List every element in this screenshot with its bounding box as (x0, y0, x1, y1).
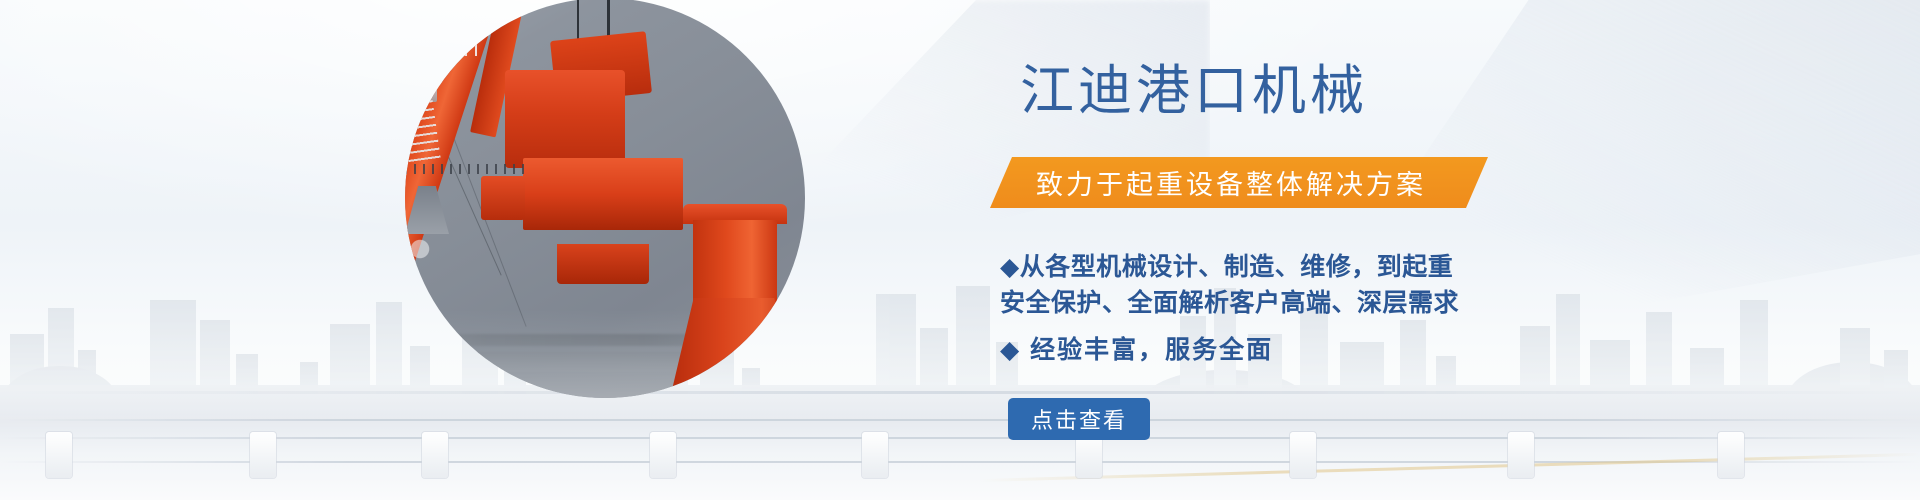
view-details-button[interactable]: 点击查看 (1008, 398, 1150, 440)
selling-point: ◆ 经验丰富，服务全面 (1000, 330, 1273, 366)
description-line-2: 安全保护、全面解析客户高端、深层需求 (1000, 286, 1459, 322)
crane-machinery-house (505, 70, 625, 168)
hero-banner: 江迪港口机械 致力于起重设备整体解决方案 ◆从各型机械设计、制造、维修，到起重 … (0, 0, 1920, 500)
crane-handrail (405, 36, 479, 56)
description-block: ◆从各型机械设计、制造、维修，到起重 安全保护、全面解析客户高端、深层需求 (1000, 250, 1459, 321)
tagline-text: 致力于起重设备整体解决方案 (1036, 163, 1426, 202)
background-road (0, 385, 1920, 500)
pedestal-column (693, 220, 777, 306)
crane-cabin (481, 176, 525, 220)
tagline-banner: 致力于起重设备整体解决方案 (990, 157, 1488, 208)
pedestal-handrail (405, 164, 527, 174)
page-title: 江迪港口机械 (1020, 64, 1368, 118)
crane-lower-block (557, 244, 649, 284)
crane-operator-house (523, 158, 683, 230)
port-crane-photo (405, 0, 805, 398)
description-line-1: ◆从各型机械设计、制造、维修，到起重 (1000, 250, 1459, 286)
pedestal-logo (405, 234, 435, 264)
